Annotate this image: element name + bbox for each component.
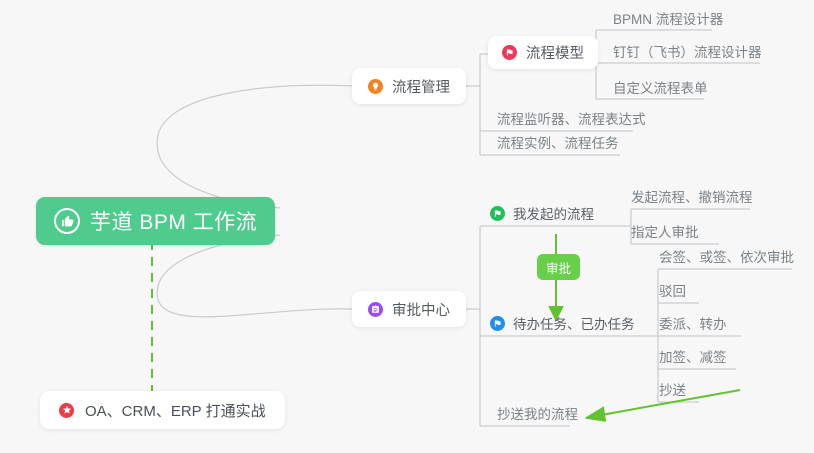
leaf-cc[interactable]: 抄送 [650, 376, 694, 402]
root-node[interactable]: 芋道 BPM 工作流 [36, 197, 275, 245]
leaf-process-instance[interactable]: 流程实例、流程任务 [488, 129, 627, 155]
callout-node-integration[interactable]: OA、CRM、ERP 打通实战 [40, 391, 285, 429]
leaf-label: 加签、减签 [659, 346, 727, 366]
link-root-to-approval-center [157, 235, 352, 317]
arrow-callout-to-root [145, 222, 159, 394]
leaf-label: 钉钉（飞书）流程设计器 [613, 41, 762, 61]
lightbulb-icon [368, 79, 383, 94]
leaf-dingtalk-designer[interactable]: 钉钉（飞书）流程设计器 [604, 38, 770, 64]
node-my-initiated-process[interactable]: 我发起的流程 [490, 200, 602, 226]
node-label: 我发起的流程 [513, 203, 594, 223]
thumbs-up-icon [54, 208, 80, 234]
leaf-delegate-transfer[interactable]: 委派、转办 [650, 310, 735, 336]
leaf-label: BPMN 流程设计器 [613, 8, 723, 28]
flag-icon [502, 45, 517, 60]
link-root-to-process-mgmt [157, 85, 352, 208]
leaf-label: 驳回 [659, 280, 686, 300]
leaf-reject[interactable]: 驳回 [650, 277, 694, 303]
annotation-tag-label: 审批 [546, 258, 571, 277]
annotation-tag-approval[interactable]: 审批 [537, 254, 580, 280]
leaf-label: 流程监听器、流程表达式 [497, 108, 646, 128]
leaf-label: 委派、转办 [659, 313, 727, 333]
branch-node-process-management[interactable]: 流程管理 [352, 68, 466, 104]
leaf-label: 流程实例、流程任务 [497, 132, 619, 152]
leaf-countersign-modes[interactable]: 会签、或签、依次审批 [650, 243, 802, 269]
node-process-model[interactable]: 流程模型 [488, 36, 598, 69]
leaf-bpmn-designer[interactable]: BPMN 流程设计器 [604, 5, 731, 31]
star-icon [59, 403, 74, 418]
leaf-cc-to-me-process[interactable]: 抄送我的流程 [488, 400, 586, 426]
branch-node-label: 流程管理 [392, 76, 450, 97]
branch-node-approval-center[interactable]: 审批中心 [352, 291, 466, 327]
flag-icon [490, 316, 505, 331]
leaf-label: 指定人审批 [631, 221, 699, 241]
mindmap-canvas: 芋道 BPM 工作流 OA、CRM、ERP 打通实战 流程管理 流程模型 流程监… [0, 0, 814, 453]
callout-node-label: OA、CRM、ERP 打通实战 [85, 400, 266, 421]
leaf-label: 会签、或签、依次审批 [659, 246, 794, 266]
leaf-label: 抄送我的流程 [497, 403, 578, 423]
leaf-custom-process-form[interactable]: 自定义流程表单 [604, 74, 716, 100]
leaf-label: 自定义流程表单 [613, 77, 708, 97]
leaf-label: 抄送 [659, 379, 686, 399]
root-node-label: 芋道 BPM 工作流 [90, 206, 257, 236]
leaf-add-remove-sign[interactable]: 加签、减签 [650, 343, 735, 369]
leaf-assignee-approval[interactable]: 指定人审批 [622, 218, 707, 244]
node-process-model-label: 流程模型 [526, 42, 584, 63]
branch-node-label: 审批中心 [392, 299, 450, 320]
leaf-process-listener[interactable]: 流程监听器、流程表达式 [488, 105, 654, 131]
flag-icon [490, 206, 505, 221]
document-icon [368, 302, 383, 317]
node-label: 待办任务、已办任务 [513, 313, 635, 333]
node-todo-done-tasks[interactable]: 待办任务、已办任务 [490, 310, 643, 336]
leaf-start-cancel-process[interactable]: 发起流程、撤销流程 [622, 183, 761, 209]
leaf-label: 发起流程、撤销流程 [631, 186, 753, 206]
